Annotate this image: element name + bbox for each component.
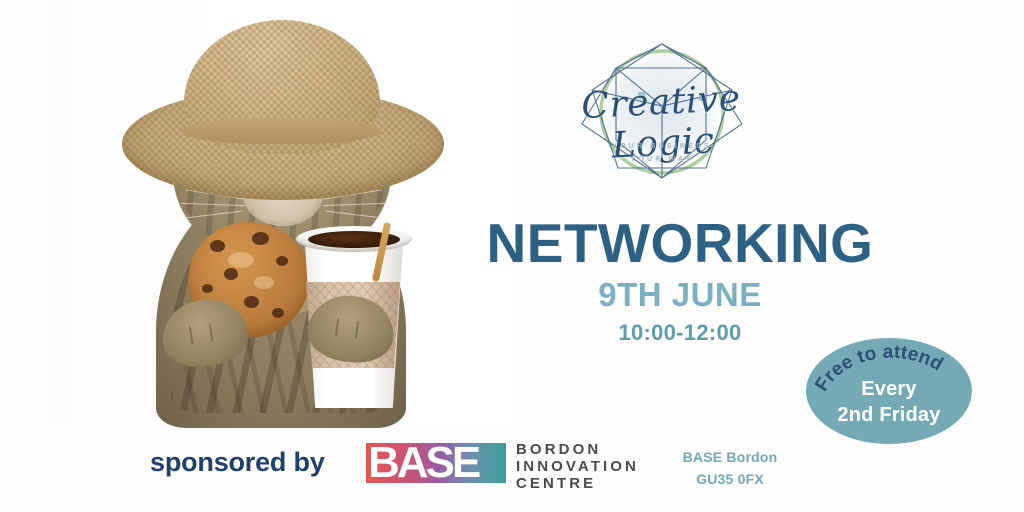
bic-line-2: INNOVATION [516,458,639,475]
creative-logic-logo: Creative Logic YOUR BUSINESS YOUR WAY [556,28,768,196]
free-to-attend-badge: Free to attend Every 2nd Friday [806,338,972,444]
badge-line-2: 2nd Friday [806,404,972,427]
straw-hat-band-icon [182,118,382,144]
base-wordmark-icon: BASE [366,440,506,488]
sponsored-by-label: sponsored by [150,447,325,478]
venue-address: BASE Bordon GU35 0FX [650,446,810,490]
networking-event-poster: Creative Logic YOUR BUSINESS YOUR WAY NE… [0,0,1024,512]
logo-tagline: YOUR BUSINESS YOUR WAY [556,140,768,166]
event-date: 9TH JUNE [470,278,890,311]
logo-tagline-line1: YOUR BUSINESS [612,143,712,150]
bic-line-1: BORDON [516,441,601,458]
venue-line-2: GU35 0FX [696,471,764,487]
logo-tagline-line2: YOUR WAY [630,156,693,163]
bic-line-3: CENTRE [516,475,596,492]
base-wordmark-logo: BASE [366,440,506,488]
venue-line-1: BASE Bordon [683,449,778,465]
badge-line-1: Every [806,378,972,401]
cat-photo [60,0,480,428]
bordon-innovation-centre-label: BORDON INNOVATION CENTRE [516,441,639,492]
event-headline: NETWORKING [470,216,890,271]
